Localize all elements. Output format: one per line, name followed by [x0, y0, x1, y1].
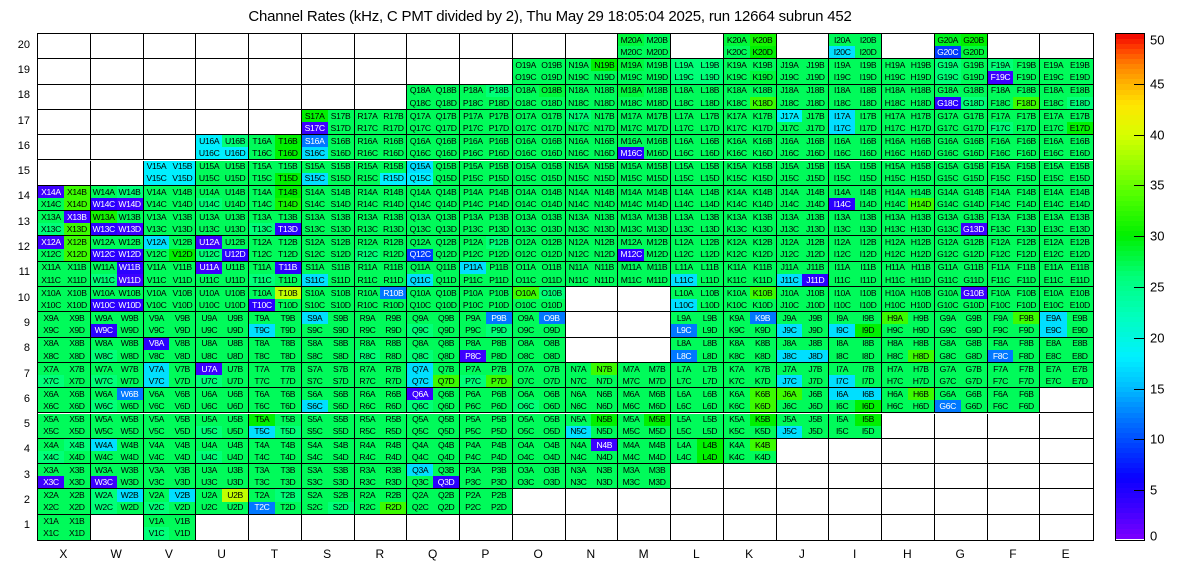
channel-l11a[interactable]: L11A [671, 262, 697, 274]
pmt-cell-p9[interactable]: P9AP9BP9CP9D [460, 312, 513, 337]
channel-s17a[interactable]: S17A [302, 110, 328, 122]
channel-s13c[interactable]: S13C [302, 223, 328, 235]
channel-k17a[interactable]: K17A [724, 110, 750, 122]
channel-k6b[interactable]: K6B [750, 388, 776, 400]
pmt-cell-s13[interactable]: S13AS13BS13CS13D [302, 211, 355, 236]
channel-f16d[interactable]: F16D [1013, 147, 1039, 159]
channel-j16a[interactable]: J16A [777, 135, 803, 147]
channel-o19d[interactable]: O19D [539, 71, 565, 83]
pmt-cell-s10[interactable]: S10AS10BS10CS10D [302, 287, 355, 312]
channel-r3a[interactable]: R3A [355, 464, 381, 476]
channel-s2c[interactable]: S2C [302, 502, 328, 514]
channel-k10c[interactable]: K10C [724, 299, 750, 311]
pmt-cell-i7[interactable]: I7AI7BI7CI7D [829, 363, 882, 388]
channel-i14d[interactable]: I14D [855, 198, 881, 210]
channel-i7c[interactable]: I7C [829, 375, 855, 387]
pmt-cell-g19[interactable]: G19AG19BG19CG19D [935, 59, 988, 84]
channel-h15c[interactable]: H15C [882, 173, 908, 185]
pmt-cell-k4[interactable]: K4AK4BK4CK4D [724, 439, 777, 464]
pmt-cell-u12[interactable]: U12AU12BU12CU12D [196, 236, 249, 261]
pmt-cell-m14[interactable]: M14AM14BM14CM14D [618, 186, 671, 211]
pmt-cell-m7[interactable]: M7AM7BM7CM7D [618, 363, 671, 388]
channel-r4c[interactable]: R4C [355, 451, 381, 463]
pmt-cell-t16[interactable]: T16AT16BT16CT16D [249, 135, 302, 160]
channel-s12b[interactable]: S12B [328, 236, 354, 248]
channel-p2b[interactable]: P2B [486, 489, 512, 501]
channel-r11c[interactable]: R11C [355, 274, 381, 286]
channel-q18a[interactable]: Q18A [407, 85, 433, 97]
channel-x5c[interactable]: X5C [38, 426, 64, 438]
channel-n17b[interactable]: N17B [591, 110, 617, 122]
pmt-cell-r10[interactable]: R10AR10BR10CR10D [355, 287, 408, 312]
channel-w14a[interactable]: W14A [91, 186, 117, 198]
channel-p14d[interactable]: P14D [486, 198, 512, 210]
channel-x8c[interactable]: X8C [38, 350, 64, 362]
channel-j5c[interactable]: J5C [777, 426, 803, 438]
channel-r12c[interactable]: R12C [355, 249, 381, 261]
channel-t12a[interactable]: T12A [249, 236, 275, 248]
channel-v6c[interactable]: V6C [144, 400, 170, 412]
channel-e11b[interactable]: E11B [1067, 262, 1093, 274]
channel-r4d[interactable]: R4D [380, 451, 406, 463]
channel-m15d[interactable]: M15D [644, 173, 670, 185]
channel-i11a[interactable]: I11A [829, 262, 855, 274]
channel-x9c[interactable]: X9C [38, 324, 64, 336]
pmt-cell-w10[interactable]: W10AW10BW10CW10D [91, 287, 144, 312]
pmt-cell-x11[interactable]: X11AX11BX11CX11D [38, 262, 91, 287]
channel-l12b[interactable]: L12B [697, 236, 723, 248]
pmt-cell-i15[interactable]: I15AI15BI15CI15D [829, 161, 882, 186]
channel-k8a[interactable]: K8A [724, 338, 750, 350]
pmt-cell-w13[interactable]: W13AW13BW13CW13D [91, 211, 144, 236]
channel-q18d[interactable]: Q18D [433, 97, 459, 109]
channel-e14b[interactable]: E14B [1067, 186, 1093, 198]
channel-q7a[interactable]: Q7A [407, 363, 433, 375]
channel-e13a[interactable]: E13A [1040, 211, 1066, 223]
channel-m6b[interactable]: M6B [644, 388, 670, 400]
pmt-cell-g13[interactable]: G13AG13BG13CG13D [935, 211, 988, 236]
channel-w8d[interactable]: W8D [117, 350, 143, 362]
channel-e18c[interactable]: E18C [1040, 97, 1066, 109]
channel-o7c[interactable]: O7C [513, 375, 539, 387]
pmt-cell-e4[interactable] [1040, 439, 1093, 464]
channel-s9c[interactable]: S9C [302, 324, 328, 336]
channel-e16a[interactable]: E16A [1040, 135, 1066, 147]
channel-g14c[interactable]: G14C [935, 198, 961, 210]
pmt-cell-x16[interactable] [38, 135, 91, 160]
channel-e14c[interactable]: E14C [1040, 198, 1066, 210]
channel-q8d[interactable]: Q8D [433, 350, 459, 362]
channel-q16b[interactable]: Q16B [433, 135, 459, 147]
channel-m14a[interactable]: M14A [618, 186, 644, 198]
channel-v11c[interactable]: V11C [144, 274, 170, 286]
pmt-cell-h7[interactable]: H7AH7BH7CH7D [882, 363, 935, 388]
channel-s11d[interactable]: S11D [328, 274, 354, 286]
pmt-cell-l3[interactable] [671, 464, 724, 489]
pmt-cell-q19[interactable] [407, 59, 460, 84]
pmt-cell-m10[interactable] [618, 287, 671, 312]
channel-q13c[interactable]: Q13C [407, 223, 433, 235]
channel-o13c[interactable]: O13C [513, 223, 539, 235]
channel-n12b[interactable]: N12B [591, 236, 617, 248]
pmt-cell-l17[interactable]: L17AL17BL17CL17D [671, 110, 724, 135]
channel-l14c[interactable]: L14C [671, 198, 697, 210]
channel-p10c[interactable]: P10C [460, 299, 486, 311]
channel-k16b[interactable]: K16B [750, 135, 776, 147]
channel-w9a[interactable]: W9A [91, 312, 117, 324]
pmt-cell-s11[interactable]: S11AS11BS11CS11D [302, 262, 355, 287]
pmt-cell-u14[interactable]: U14AU14BU14CU14D [196, 186, 249, 211]
pmt-cell-o3[interactable]: O3AO3BO3CO3D [513, 464, 566, 489]
channel-x5b[interactable]: X5B [64, 414, 90, 426]
pmt-cell-t5[interactable]: T5AT5BT5CT5D [249, 414, 302, 439]
channel-q18c[interactable]: Q18C [407, 97, 433, 109]
channel-x13a[interactable]: X13A [38, 211, 64, 223]
channel-s3c[interactable]: S3C [302, 476, 328, 488]
channel-k11c[interactable]: K11C [724, 274, 750, 286]
channel-p11d[interactable]: P11D [486, 274, 512, 286]
channel-s17d[interactable]: S17D [328, 122, 354, 134]
channel-w7c[interactable]: W7C [91, 375, 117, 387]
channel-h9b[interactable]: H9B [908, 312, 934, 324]
channel-w4d[interactable]: W4D [117, 451, 143, 463]
channel-m18a[interactable]: M18A [618, 85, 644, 97]
pmt-cell-o18[interactable]: O18AO18BO18CO18D [513, 85, 566, 110]
channel-o13a[interactable]: O13A [513, 211, 539, 223]
channel-q5a[interactable]: Q5A [407, 414, 433, 426]
pmt-cell-q17[interactable]: Q17AQ17BQ17CQ17D [407, 110, 460, 135]
channel-t12d[interactable]: T12D [275, 249, 301, 261]
pmt-cell-f15[interactable]: F15AF15BF15CF15D [988, 161, 1041, 186]
pmt-cell-k11[interactable]: K11AK11BK11CK11D [724, 262, 777, 287]
pmt-cell-v5[interactable]: V5AV5BV5CV5D [144, 414, 197, 439]
channel-v12b[interactable]: V12B [169, 236, 195, 248]
pmt-cell-g1[interactable] [935, 515, 988, 540]
pmt-cell-h18[interactable]: H18AH18BH18CH18D [882, 85, 935, 110]
channel-g10b[interactable]: G10B [961, 287, 987, 299]
channel-t6b[interactable]: T6B [275, 388, 301, 400]
channel-e16d[interactable]: E16D [1067, 147, 1093, 159]
channel-n14a[interactable]: N14A [566, 186, 592, 198]
channel-k5b[interactable]: K5B [750, 414, 776, 426]
pmt-cell-t11[interactable]: T11AT11BT11CT11D [249, 262, 302, 287]
channel-l5a[interactable]: L5A [671, 414, 697, 426]
channel-p3b[interactable]: P3B [486, 464, 512, 476]
channel-h15d[interactable]: H15D [908, 173, 934, 185]
channel-w7a[interactable]: W7A [91, 363, 117, 375]
pmt-cell-x3[interactable]: X3AX3BX3CX3D [38, 464, 91, 489]
channel-r4a[interactable]: R4A [355, 439, 381, 451]
channel-w5b[interactable]: W5B [117, 414, 143, 426]
channel-l18d[interactable]: L18D [697, 97, 723, 109]
channel-f17d[interactable]: F17D [1013, 122, 1039, 134]
channel-x3c[interactable]: X3C [38, 476, 64, 488]
pmt-cell-j14[interactable]: J14AJ14BJ14CJ14D [777, 186, 830, 211]
pmt-cell-k12[interactable]: K12AK12BK12CK12D [724, 236, 777, 261]
channel-q13a[interactable]: Q13A [407, 211, 433, 223]
channel-h12a[interactable]: H12A [882, 236, 908, 248]
channel-e11c[interactable]: E11C [1040, 274, 1066, 286]
channel-p7b[interactable]: P7B [486, 363, 512, 375]
channel-l19c[interactable]: L19C [671, 71, 697, 83]
pmt-cell-x8[interactable]: X8AX8BX8CX8D [38, 338, 91, 363]
channel-q17d[interactable]: Q17D [433, 122, 459, 134]
channel-k15a[interactable]: K15A [724, 161, 750, 173]
channel-h19b[interactable]: H19B [908, 59, 934, 71]
channel-u12d[interactable]: U12D [222, 249, 248, 261]
channel-q15b[interactable]: Q15B [433, 161, 459, 173]
channel-u6c[interactable]: U6C [196, 400, 222, 412]
channel-q9a[interactable]: Q9A [407, 312, 433, 324]
pmt-cell-t10[interactable]: T10AT10BT10CT10D [249, 287, 302, 312]
pmt-cell-f7[interactable]: F7AF7BF7CF7D [988, 363, 1041, 388]
channel-j17c[interactable]: J17C [777, 122, 803, 134]
pmt-cell-e16[interactable]: E16AE16BE16CE16D [1040, 135, 1093, 160]
pmt-cell-l4[interactable]: L4AL4BL4CL4D [671, 439, 724, 464]
channel-q15a[interactable]: Q15A [407, 161, 433, 173]
channel-h14b[interactable]: H14B [908, 186, 934, 198]
pmt-cell-r15[interactable]: R15AR15BR15CR15D [355, 161, 408, 186]
channel-x2b[interactable]: X2B [64, 489, 90, 501]
channel-j18b[interactable]: J18B [802, 85, 828, 97]
pmt-cell-s2[interactable]: S2AS2BS2CS2D [302, 489, 355, 514]
pmt-cell-r14[interactable]: R14AR14BR14CR14D [355, 186, 408, 211]
channel-x1d[interactable]: X1D [64, 527, 90, 540]
pmt-cell-s18[interactable] [302, 85, 355, 110]
channel-o8b[interactable]: O8B [539, 338, 565, 350]
channel-f7a[interactable]: F7A [988, 363, 1014, 375]
channel-o14b[interactable]: O14B [539, 186, 565, 198]
channel-f13b[interactable]: F13B [1013, 211, 1039, 223]
channel-g10c[interactable]: G10C [935, 299, 961, 311]
channel-h17a[interactable]: H17A [882, 110, 908, 122]
pmt-cell-e13[interactable]: E13AE13BE13CE13D [1040, 211, 1093, 236]
pmt-cell-w15[interactable] [91, 161, 144, 186]
channel-l4c[interactable]: L4C [671, 451, 697, 463]
channel-j19b[interactable]: J19B [802, 59, 828, 71]
pmt-cell-n20[interactable] [566, 34, 619, 59]
channel-o18a[interactable]: O18A [513, 85, 539, 97]
channel-g12d[interactable]: G12D [961, 249, 987, 261]
pmt-cell-e9[interactable]: E9AE9BE9CE9D [1040, 312, 1093, 337]
channel-f17b[interactable]: F17B [1013, 110, 1039, 122]
channel-l9b[interactable]: L9B [697, 312, 723, 324]
channel-e17a[interactable]: E17A [1040, 110, 1066, 122]
pmt-cell-q9[interactable]: Q9AQ9BQ9CQ9D [407, 312, 460, 337]
channel-l12a[interactable]: L12A [671, 236, 697, 248]
pmt-cell-o15[interactable]: O15AO15BO15CO15D [513, 161, 566, 186]
channel-j19d[interactable]: J19D [802, 71, 828, 83]
channel-l19d[interactable]: L19D [697, 71, 723, 83]
channel-k12d[interactable]: K12D [750, 249, 776, 261]
channel-o3d[interactable]: O3D [539, 476, 565, 488]
channel-t5b[interactable]: T5B [275, 414, 301, 426]
channel-o4d[interactable]: O4D [539, 451, 565, 463]
channel-i5a[interactable]: I5A [829, 414, 855, 426]
channel-j7d[interactable]: J7D [802, 375, 828, 387]
channel-k18b[interactable]: K18B [750, 85, 776, 97]
channel-g18a[interactable]: G18A [935, 85, 961, 97]
channel-n5c[interactable]: N5C [566, 426, 592, 438]
channel-r5d[interactable]: R5D [380, 426, 406, 438]
pmt-cell-l10[interactable]: L10AL10BL10CL10D [671, 287, 724, 312]
channel-h7a[interactable]: H7A [882, 363, 908, 375]
channel-s7b[interactable]: S7B [328, 363, 354, 375]
channel-q10d[interactable]: Q10D [433, 299, 459, 311]
pmt-cell-m11[interactable]: M11AM11BM11CM11D [618, 262, 671, 287]
channel-e9b[interactable]: E9B [1067, 312, 1093, 324]
pmt-cell-u2[interactable]: U2AU2BU2CU2D [196, 489, 249, 514]
channel-v6a[interactable]: V6A [144, 388, 170, 400]
channel-f16a[interactable]: F16A [988, 135, 1014, 147]
channel-x9b[interactable]: X9B [64, 312, 90, 324]
channel-m14c[interactable]: M14C [618, 198, 644, 210]
channel-l16a[interactable]: L16A [671, 135, 697, 147]
channel-v2c[interactable]: V2C [144, 502, 170, 514]
channel-t13b[interactable]: T13B [275, 211, 301, 223]
pmt-cell-s3[interactable]: S3AS3BS3CS3D [302, 464, 355, 489]
channel-p18b[interactable]: P18B [486, 85, 512, 97]
pmt-cell-t13[interactable]: T13AT13BT13CT13D [249, 211, 302, 236]
channel-l11c[interactable]: L11C [671, 274, 697, 286]
pmt-cell-i6[interactable]: I6AI6BI6CI6D [829, 388, 882, 413]
channel-w2d[interactable]: W2D [117, 502, 143, 514]
channel-o9d[interactable]: O9D [539, 324, 565, 336]
pmt-cell-j9[interactable]: J9AJ9BJ9CJ9D [777, 312, 830, 337]
channel-m18b[interactable]: M18B [644, 85, 670, 97]
pmt-cell-h13[interactable]: H13AH13BH13CH13D [882, 211, 935, 236]
channel-t7d[interactable]: T7D [275, 375, 301, 387]
pmt-cell-p18[interactable]: P18AP18BP18CP18D [460, 85, 513, 110]
channel-h8a[interactable]: H8A [882, 338, 908, 350]
channel-k14d[interactable]: K14D [750, 198, 776, 210]
channel-l7c[interactable]: L7C [671, 375, 697, 387]
channel-l5b[interactable]: L5B [697, 414, 723, 426]
channel-m12c[interactable]: M12C [618, 249, 644, 261]
channel-m7c[interactable]: M7C [618, 375, 644, 387]
channel-v2a[interactable]: V2A [144, 489, 170, 501]
channel-o3c[interactable]: O3C [513, 476, 539, 488]
channel-r14b[interactable]: R14B [380, 186, 406, 198]
channel-q11d[interactable]: Q11D [433, 274, 459, 286]
channel-s7d[interactable]: S7D [328, 375, 354, 387]
channel-e10c[interactable]: E10C [1040, 299, 1066, 311]
pmt-cell-p7[interactable]: P7AP7BP7CP7D [460, 363, 513, 388]
channel-w4c[interactable]: W4C [91, 451, 117, 463]
channel-t14b[interactable]: T14B [275, 186, 301, 198]
channel-e15c[interactable]: E15C [1040, 173, 1066, 185]
channel-s15a[interactable]: S15A [302, 161, 328, 173]
channel-v6d[interactable]: V6D [169, 400, 195, 412]
channel-o7b[interactable]: O7B [539, 363, 565, 375]
pmt-cell-s7[interactable]: S7AS7BS7CS7D [302, 363, 355, 388]
channel-r5a[interactable]: R5A [355, 414, 381, 426]
channel-u3d[interactable]: U3D [222, 476, 248, 488]
channel-p16b[interactable]: P16B [486, 135, 512, 147]
channel-p5d[interactable]: P5D [486, 426, 512, 438]
channel-u16b[interactable]: U16B [222, 135, 248, 147]
channel-h13d[interactable]: H13D [908, 223, 934, 235]
channel-t12c[interactable]: T12C [249, 249, 275, 261]
channel-l18b[interactable]: L18B [697, 85, 723, 97]
pmt-cell-w17[interactable] [91, 110, 144, 135]
channel-o11d[interactable]: O11D [539, 274, 565, 286]
channel-v11b[interactable]: V11B [169, 262, 195, 274]
channel-w11b[interactable]: W11B [117, 262, 143, 274]
channel-p11a[interactable]: P11A [460, 262, 486, 274]
channel-o5b[interactable]: O5B [539, 414, 565, 426]
channel-m4a[interactable]: M4A [618, 439, 644, 451]
channel-h19d[interactable]: H19D [908, 71, 934, 83]
channel-f7b[interactable]: F7B [1013, 363, 1039, 375]
channel-p7a[interactable]: P7A [460, 363, 486, 375]
channel-j18c[interactable]: J18C [777, 97, 803, 109]
channel-u13c[interactable]: U13C [196, 223, 222, 235]
channel-r17b[interactable]: R17B [380, 110, 406, 122]
channel-o17b[interactable]: O17B [539, 110, 565, 122]
channel-i12b[interactable]: I12B [855, 236, 881, 248]
channel-m5a[interactable]: M5A [618, 414, 644, 426]
channel-q5d[interactable]: Q5D [433, 426, 459, 438]
channel-q2a[interactable]: Q2A [407, 489, 433, 501]
channel-k17b[interactable]: K17B [750, 110, 776, 122]
channel-g6a[interactable]: G6A [935, 388, 961, 400]
pmt-cell-j2[interactable] [777, 489, 830, 514]
pmt-cell-t3[interactable]: T3AT3BT3CT3D [249, 464, 302, 489]
channel-l15d[interactable]: L15D [697, 173, 723, 185]
pmt-cell-i13[interactable]: I13AI13BI13CI13D [829, 211, 882, 236]
pmt-cell-p17[interactable]: P17AP17BP17CP17D [460, 110, 513, 135]
channel-w2a[interactable]: W2A [91, 489, 117, 501]
channel-q7d[interactable]: Q7D [433, 375, 459, 387]
channel-x10d[interactable]: X10D [64, 299, 90, 311]
channel-i10a[interactable]: I10A [829, 287, 855, 299]
channel-i14b[interactable]: I14B [855, 186, 881, 198]
pmt-cell-p12[interactable]: P12AP12BP12CP12D [460, 236, 513, 261]
channel-q3c[interactable]: Q3C [407, 476, 433, 488]
channel-n11a[interactable]: N11A [566, 262, 592, 274]
channel-l11d[interactable]: L11D [697, 274, 723, 286]
channel-h7b[interactable]: H7B [908, 363, 934, 375]
channel-i16c[interactable]: I16C [829, 147, 855, 159]
channel-u4d[interactable]: U4D [222, 451, 248, 463]
channel-t2b[interactable]: T2B [275, 489, 301, 501]
channel-l15a[interactable]: L15A [671, 161, 697, 173]
channel-j13a[interactable]: J13A [777, 211, 803, 223]
channel-v3b[interactable]: V3B [169, 464, 195, 476]
channel-g6b[interactable]: G6B [961, 388, 987, 400]
channel-k19c[interactable]: K19C [724, 71, 750, 83]
channel-u7c[interactable]: U7C [196, 375, 222, 387]
channel-e15a[interactable]: E15A [1040, 161, 1066, 173]
pmt-cell-g20[interactable]: G20AG20BG20CG20D [935, 34, 988, 59]
channel-u5d[interactable]: U5D [222, 426, 248, 438]
channel-v7a[interactable]: V7A [144, 363, 170, 375]
channel-h18a[interactable]: H18A [882, 85, 908, 97]
channel-v12d[interactable]: V12D [169, 249, 195, 261]
pmt-cell-q15[interactable]: Q15AQ15BQ15CQ15D [407, 161, 460, 186]
channel-k19a[interactable]: K19A [724, 59, 750, 71]
channel-k5d[interactable]: K5D [750, 426, 776, 438]
pmt-cell-f13[interactable]: F13AF13BF13CF13D [988, 211, 1041, 236]
channel-r3d[interactable]: R3D [380, 476, 406, 488]
channel-h17d[interactable]: H17D [908, 122, 934, 134]
channel-r8a[interactable]: R8A [355, 338, 381, 350]
channel-r15a[interactable]: R15A [355, 161, 381, 173]
channel-q2c[interactable]: Q2C [407, 502, 433, 514]
channel-m17b[interactable]: M17B [644, 110, 670, 122]
pmt-cell-l20[interactable] [671, 34, 724, 59]
